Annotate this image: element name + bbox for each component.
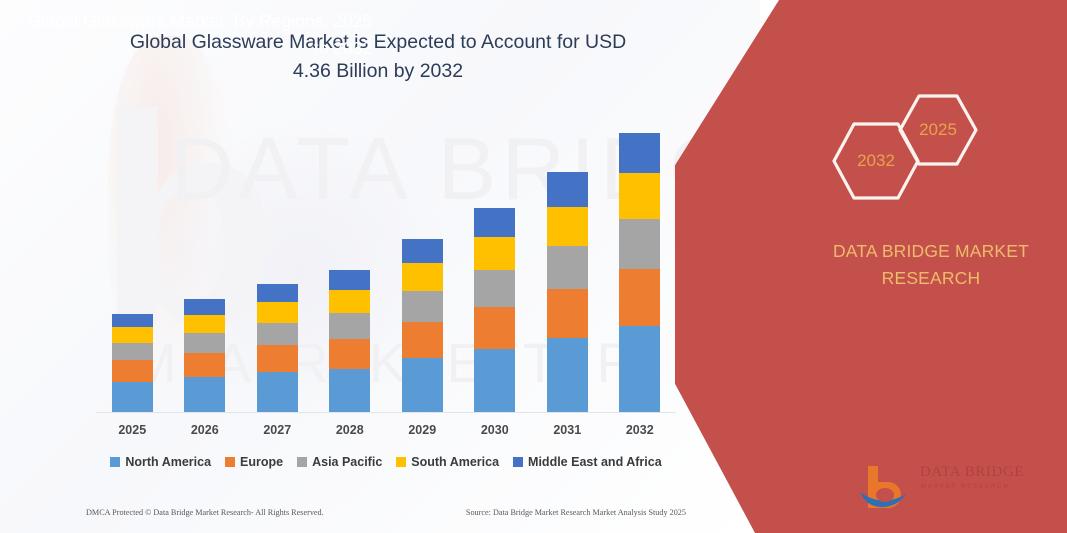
stacked-bar [184,299,225,413]
bar-column [169,100,242,413]
bar-column [604,100,677,413]
x-axis-label: 2031 [531,423,604,437]
bar-segment [402,291,443,322]
bar-segment [547,338,588,413]
bar-segment [474,208,515,237]
brand-name: DATA BRIDGE MARKET RESEARCH [800,238,1062,292]
chart-legend: North AmericaEuropeAsia PacificSouth Ame… [96,455,676,469]
bar-segment [547,207,588,246]
hexagon-2032-label: 2032 [857,151,895,171]
legend-item[interactable]: Europe [225,455,283,469]
bar-segment [402,322,443,358]
legend-label: North America [125,455,211,469]
bar-segment [257,302,298,322]
data-bridge-logo-icon [858,462,918,508]
x-axis-label: 2032 [604,423,677,437]
bar-segment [112,360,153,382]
bar-segment [257,372,298,413]
stacked-bar [619,133,660,413]
logo-wordmark: DATA BRIDGE [920,464,1024,481]
footer-source: Source: Data Bridge Market Research Mark… [466,508,686,517]
bar-segment [184,377,225,413]
bar-segment [112,327,153,343]
bar-segment [329,313,370,339]
bar-column [96,100,169,413]
bar-segment [184,299,225,315]
legend-item[interactable]: Middle East and Africa [513,455,662,469]
bar-segment [184,315,225,333]
bar-series-container [96,100,676,413]
footer-copyright: DMCA Protected © Data Bridge Market Rese… [86,508,324,517]
bar-segment [184,353,225,377]
legend-swatch-icon [297,457,307,467]
stacked-bar [329,270,370,413]
brand-line-2: RESEARCH [800,265,1062,292]
bar-segment [257,323,298,346]
bar-segment [619,219,660,269]
bar-segment [547,289,588,338]
legend-swatch-icon [513,457,523,467]
bar-segment [402,358,443,413]
bar-segment [619,269,660,326]
x-axis-line [96,412,676,413]
chart-plot-area [96,100,676,413]
bar-column [459,100,532,413]
x-axis-label: 2030 [459,423,532,437]
bar-segment [112,343,153,360]
bar-segment [257,284,298,302]
legend-item[interactable]: Asia Pacific [297,455,382,469]
bar-segment [547,172,588,207]
legend-label: Middle East and Africa [528,455,662,469]
legend-label: Europe [240,455,283,469]
bar-segment [619,326,660,413]
bar-column [314,100,387,413]
bar-segment [619,173,660,218]
hexagon-2025-label: 2025 [919,120,957,140]
logo-tagline: MARKET RESEARCH [921,484,1010,490]
x-axis-label: 2029 [386,423,459,437]
legend-label: Asia Pacific [312,455,382,469]
bar-segment [402,263,443,291]
bar-segment [329,290,370,313]
infographic-canvas: b DATA BRIDGE M A R K E T R E S E A R C … [0,0,1067,533]
stacked-bar [547,172,588,413]
legend-swatch-icon [225,457,235,467]
legend-swatch-icon [110,457,120,467]
bar-segment [402,239,443,264]
panel-title: Global Glassware Market, By Regions, 202… [16,8,388,62]
bar-column [386,100,459,413]
bar-segment [112,382,153,413]
bar-segment [474,237,515,270]
stacked-bar [112,314,153,413]
legend-item[interactable]: North America [110,455,211,469]
x-axis-label: 2026 [169,423,242,437]
bar-segment [257,345,298,372]
x-axis-label: 2028 [314,423,387,437]
bar-segment [329,339,370,369]
bar-column [531,100,604,413]
company-logo: DATA BRIDGE MARKET RESEARCH [858,462,1048,510]
x-axis-label: 2025 [96,423,169,437]
bar-segment [112,314,153,328]
footer: DMCA Protected © Data Bridge Market Rese… [86,508,686,517]
stacked-bar [257,284,298,413]
bar-segment [329,270,370,290]
bar-column [241,100,314,413]
bar-segment [474,270,515,306]
x-axis-labels: 20252026202720282029203020312032 [96,423,676,437]
legend-item[interactable]: South America [396,455,499,469]
stacked-bar [402,239,443,413]
stacked-bar [474,208,515,413]
bar-segment [184,333,225,353]
bar-segment [547,246,588,289]
brand-line-1: DATA BRIDGE MARKET [800,238,1062,265]
bar-segment [474,307,515,349]
x-axis-label: 2027 [241,423,314,437]
hexagon-2025: 2025 [896,92,980,168]
bar-segment [619,133,660,173]
legend-label: South America [411,455,499,469]
legend-swatch-icon [396,457,406,467]
bar-segment [329,369,370,413]
hexagon-group: 2032 2025 [810,92,1060,212]
bar-segment [474,349,515,413]
